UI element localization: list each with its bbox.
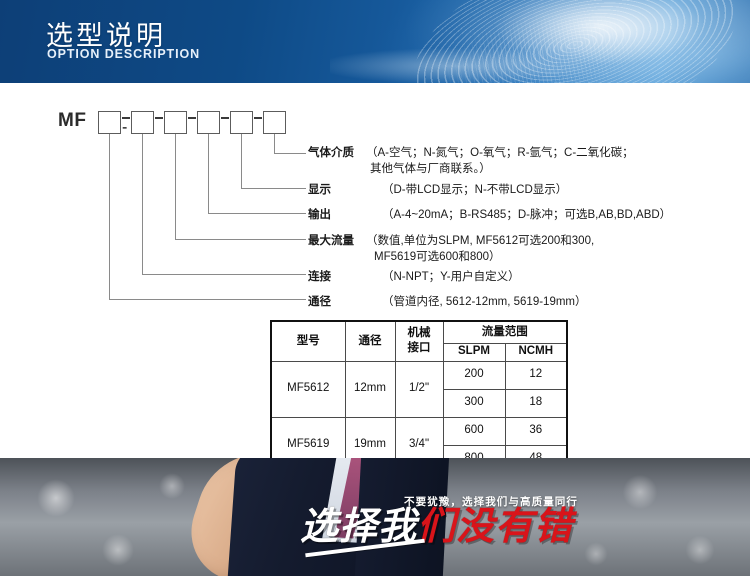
separator-dash-4: [221, 117, 229, 119]
spec-table-wrapper: 型号 通径 机械 接口 流量范围 SLPM NCMH MF5612 12mm 1…: [270, 320, 568, 474]
annotation-term-display: 显示: [308, 181, 382, 197]
annotation-desc-connection: （N-NPT；Y-用户自定义）: [382, 268, 520, 284]
leader-line-v-6: [274, 134, 275, 154]
spec-table: 型号 通径 机械 接口 流量范围 SLPM NCMH MF5612 12mm 1…: [270, 320, 568, 474]
annotation-term-connection: 连接: [308, 268, 382, 284]
leader-line-v-2: [142, 134, 143, 275]
annotation-row-connection: 连接（N-NPT；Y-用户自定义）: [308, 268, 520, 284]
page-header-banner: 选型说明 OPTION DESCRIPTION: [0, 0, 750, 83]
separator-dash-1: -: [122, 117, 130, 119]
table-cell-slpm: 300: [443, 389, 505, 417]
leader-line-h-6: [274, 153, 306, 154]
annotation-row-gas-medium: 气体介质（A-空气；N-氮气；O-氧气；R-氩气；C-二氧化碳； 其他气体与厂商…: [308, 144, 634, 176]
table-cell-slpm: 200: [443, 361, 505, 389]
table-row: MF5612 12mm 1/2" 200 12: [271, 361, 567, 389]
annotation-desc-bore: （管道内径, 5612-12mm, 5619-19mm）: [382, 293, 587, 309]
table-header-mech-line2: 接口: [396, 343, 443, 355]
header-fan-rays-decoration: [421, 0, 698, 83]
annotation-term-gas-medium: 气体介质: [308, 144, 366, 160]
table-header-mech-interface: 机械 接口: [395, 321, 443, 361]
model-prefix-label: MF: [58, 110, 86, 132]
leader-line-h-3: [175, 239, 306, 240]
code-box-1[interactable]: [98, 111, 121, 134]
table-header-mech-line1: 机械: [396, 328, 443, 340]
leader-line-h-1: [109, 299, 306, 300]
code-box-4[interactable]: [197, 111, 220, 134]
table-header-bore: 通径: [345, 321, 395, 361]
annotation-row-max-flow: 最大流量（数值,单位为SLPM, MF5612可选200和300, MF5619…: [308, 232, 594, 264]
separator-dash-5: [254, 117, 262, 119]
annotation-row-display: 显示（D-带LCD显示；N-不带LCD显示）: [308, 181, 567, 197]
annotation-desc-gas-medium: （A-空气；N-氮气；O-氧气；R-氩气；C-二氧化碳；: [366, 144, 634, 160]
leader-line-v-1: [109, 134, 110, 300]
table-cell-slpm: 600: [443, 417, 505, 445]
table-cell-ncmh: 36: [505, 417, 567, 445]
annotation-row-bore: 通径（管道内径, 5612-12mm, 5619-19mm）: [308, 293, 587, 309]
header-cloud-decoration: [330, 30, 750, 83]
separator-dash-2: [155, 117, 163, 119]
footer-banner: 不要犹豫，选择我们与高质量同行 选择我们没有错: [0, 458, 750, 576]
leader-line-v-4: [208, 134, 209, 214]
annotation-desc-display: （D-带LCD显示；N-不带LCD显示）: [382, 181, 567, 197]
table-header-ncmh: NCMH: [505, 343, 567, 361]
footer-slogan: 选择我们没有错: [300, 508, 573, 546]
leader-line-h-4: [208, 213, 306, 214]
annotation-term-output: 输出: [308, 206, 382, 222]
table-cell-ncmh: 12: [505, 361, 567, 389]
table-header-model: 型号: [271, 321, 345, 361]
annotation-desc-max-flow-line2: MF5619可选600和800）: [374, 248, 594, 264]
page-subtitle: OPTION DESCRIPTION: [47, 47, 200, 61]
footer-slogan-red: 们没有错: [417, 506, 573, 548]
annotation-desc-gas-medium-line2: 其他气体与厂商联系。）: [370, 160, 634, 176]
table-header-slpm: SLPM: [443, 343, 505, 361]
table-header-flow-range: 流量范围: [443, 321, 567, 343]
separator-dash-3: [188, 117, 196, 119]
annotation-desc-max-flow: （数值,单位为SLPM, MF5612可选200和300,: [366, 232, 594, 248]
annotation-term-max-flow: 最大流量: [308, 232, 366, 248]
leader-line-v-5: [241, 134, 242, 189]
table-row: MF5619 19mm 3/4" 600 36: [271, 417, 567, 445]
code-box-2[interactable]: [131, 111, 154, 134]
table-header-row-1: 型号 通径 机械 接口 流量范围: [271, 321, 567, 343]
leader-line-v-3: [175, 134, 176, 240]
code-box-5[interactable]: [230, 111, 253, 134]
annotation-term-bore: 通径: [308, 293, 382, 309]
table-cell-bore: 12mm: [345, 361, 395, 417]
leader-line-h-5: [241, 188, 306, 189]
table-cell-model: MF5612: [271, 361, 345, 417]
annotation-row-output: 输出（A-4~20mA；B-RS485；D-脉冲；可选B,AB,BD,ABD）: [308, 206, 671, 222]
code-box-6[interactable]: [263, 111, 286, 134]
table-cell-mech: 1/2": [395, 361, 443, 417]
header-ripple-rings-icon: [394, 0, 750, 83]
annotation-desc-output: （A-4~20mA；B-RS485；D-脉冲；可选B,AB,BD,ABD）: [382, 206, 671, 222]
code-box-3[interactable]: [164, 111, 187, 134]
table-cell-ncmh: 18: [505, 389, 567, 417]
leader-line-h-2: [142, 274, 306, 275]
